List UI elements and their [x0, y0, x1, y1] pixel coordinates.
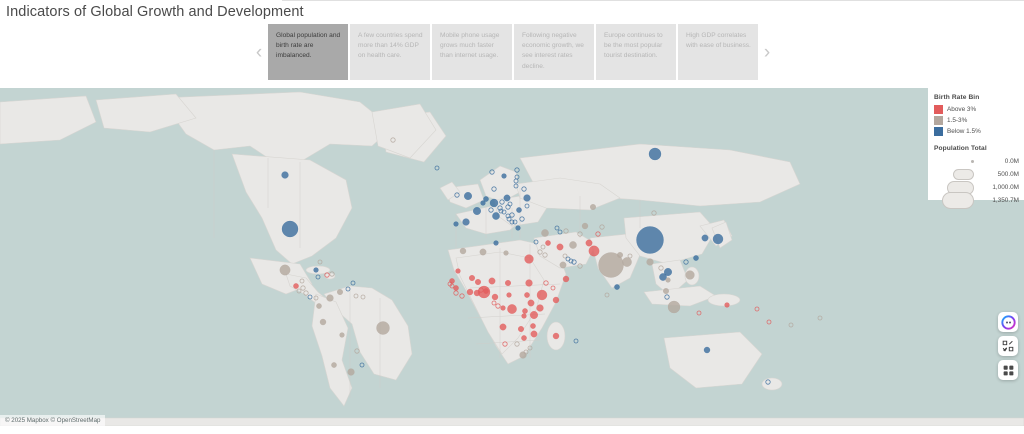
- story-point-label: Europe continues to be the most popular …: [604, 32, 663, 59]
- story-point-4[interactable]: Following negative economic growth, we s…: [514, 24, 594, 80]
- map-bubble[interactable]: [522, 308, 527, 313]
- map-bubble[interactable]: [555, 226, 559, 230]
- map-bubble[interactable]: [522, 314, 527, 319]
- map-bubble[interactable]: [574, 339, 578, 343]
- map-bubble[interactable]: [713, 234, 723, 244]
- map-bubble[interactable]: [569, 241, 576, 248]
- map-bubble[interactable]: [475, 279, 481, 285]
- legend-color-item[interactable]: Above 3%: [934, 104, 1019, 114]
- map-bubble[interactable]: [515, 168, 519, 172]
- map-bubble[interactable]: [327, 295, 334, 302]
- legend-swatch-icon: [934, 105, 943, 114]
- map-bubble[interactable]: [686, 271, 695, 280]
- map-bubble[interactable]: [492, 212, 499, 219]
- map-bubble[interactable]: [702, 235, 708, 241]
- map-bubble[interactable]: [473, 207, 481, 215]
- map-bubble[interactable]: [697, 311, 701, 315]
- legend-color-item[interactable]: Below 1.5%: [934, 126, 1019, 136]
- map-bubble[interactable]: [663, 288, 669, 294]
- map-bubble[interactable]: [526, 280, 533, 287]
- map-bubble[interactable]: [524, 195, 531, 202]
- apps-grid-icon[interactable]: [998, 360, 1018, 380]
- chevron-left-icon[interactable]: ‹: [250, 24, 268, 80]
- map-bubble[interactable]: [666, 278, 671, 283]
- map-attribution: © 2025 Mapbox © OpenStreetMap: [0, 415, 105, 426]
- legend-color-label: Below 1.5%: [947, 128, 981, 135]
- map-bubble[interactable]: [282, 221, 298, 237]
- map-bubble[interactable]: [500, 324, 506, 330]
- map-bubble[interactable]: [454, 222, 459, 227]
- legend-size-item[interactable]: 0.0M: [934, 155, 1019, 168]
- story-point-3[interactable]: Mobile phone usage grows much faster tha…: [432, 24, 512, 80]
- map-bubble[interactable]: [586, 240, 592, 246]
- story-navigator: ‹ Global population and birth rate are i…: [250, 24, 778, 80]
- story-point-2[interactable]: A few countries spend more than 14% GDP …: [350, 24, 430, 80]
- legend-size-shape: [953, 169, 974, 180]
- map-bubble[interactable]: [518, 326, 524, 332]
- story-dashboard: Indicators of Global Growth and Developm…: [0, 0, 1024, 434]
- map-bubble[interactable]: [507, 293, 512, 298]
- map-bubble[interactable]: [464, 192, 472, 200]
- map-bubble[interactable]: [647, 259, 654, 266]
- map-bubble[interactable]: [316, 303, 321, 308]
- map-bubble[interactable]: [320, 319, 326, 325]
- legend-size-label: 1,350.7M: [979, 197, 1019, 204]
- map-bubble[interactable]: [596, 232, 600, 236]
- map-bubble[interactable]: [553, 333, 559, 339]
- map-canvas[interactable]: © 2025 Mapbox © OpenStreetMap: [0, 88, 1024, 426]
- map-bubble[interactable]: [377, 322, 390, 335]
- map-bubble[interactable]: [348, 369, 355, 376]
- legend-size-label: 0.0M: [979, 158, 1019, 165]
- map-bubble[interactable]: [541, 229, 548, 236]
- map-bubble[interactable]: [589, 246, 599, 256]
- floating-control-stack: [998, 312, 1018, 380]
- map-bubble[interactable]: [360, 363, 364, 367]
- map-bubble[interactable]: [684, 260, 688, 264]
- map-bubble[interactable]: [481, 201, 486, 206]
- legend-size-title: Population Total: [934, 145, 1019, 152]
- map-bubble[interactable]: [528, 300, 534, 306]
- map-bubble[interactable]: [520, 352, 527, 359]
- map-bubble[interactable]: [530, 323, 535, 328]
- map-bubble[interactable]: [725, 303, 730, 308]
- map-bubble[interactable]: [617, 252, 623, 258]
- title-bar: Indicators of Global Growth and Developm…: [0, 0, 1024, 24]
- map-bubble[interactable]: [454, 291, 458, 295]
- einstein-ai-icon[interactable]: [998, 312, 1018, 332]
- map-bubble[interactable]: [622, 257, 631, 266]
- data-details-glyph: [1001, 339, 1015, 353]
- story-point-label: A few countries spend more than 14% GDP …: [358, 32, 423, 59]
- map-bubble[interactable]: [553, 297, 559, 303]
- story-point-label: Global population and birth rate are imb…: [276, 32, 340, 59]
- story-point-label: Mobile phone usage grows much faster tha…: [440, 32, 499, 59]
- map-bubble[interactable]: [652, 211, 656, 215]
- legend-color-label: 1.5-3%: [947, 117, 967, 124]
- map-bubble[interactable]: [767, 320, 771, 324]
- map-bubble[interactable]: [525, 255, 534, 264]
- map-bubble[interactable]: [316, 275, 320, 279]
- map-bubble[interactable]: [314, 268, 319, 273]
- map-bubble[interactable]: [755, 307, 759, 311]
- map-bubble[interactable]: [516, 207, 521, 212]
- map-bubble[interactable]: [504, 195, 510, 201]
- map-bubble[interactable]: [614, 284, 619, 289]
- map-bubble[interactable]: [537, 305, 544, 312]
- map-bubble[interactable]: [524, 292, 529, 297]
- map-bubble[interactable]: [507, 304, 516, 313]
- map-bubble[interactable]: [435, 166, 439, 170]
- map-bubble[interactable]: [489, 278, 495, 284]
- map-bubble[interactable]: [668, 301, 680, 313]
- map-bubble[interactable]: [293, 283, 298, 288]
- map-bubble[interactable]: [492, 294, 498, 300]
- map-bubble[interactable]: [516, 226, 521, 231]
- map-bubble[interactable]: [337, 289, 343, 295]
- map-bubble[interactable]: [490, 199, 498, 207]
- legend-size-label: 1,000.0M: [979, 184, 1019, 191]
- legend-color-title: Birth Rate Bin: [934, 94, 1019, 101]
- story-point-6[interactable]: High GDP correlates with ease of busines…: [678, 24, 758, 80]
- legend-size-item[interactable]: 1,350.7M: [934, 194, 1019, 207]
- map-bubble[interactable]: [494, 241, 499, 246]
- map-bubble[interactable]: [504, 251, 509, 256]
- map-bubble[interactable]: [331, 362, 336, 367]
- map-bubble[interactable]: [355, 349, 359, 353]
- map-bubble[interactable]: [483, 288, 488, 293]
- map-bubble[interactable]: [460, 294, 464, 298]
- title-divider: [282, 0, 1024, 1]
- map-bubble[interactable]: [501, 306, 506, 311]
- story-point-label: Following negative economic growth, we s…: [522, 32, 584, 70]
- map-bubble[interactable]: [704, 347, 710, 353]
- map-bubble[interactable]: [563, 276, 569, 282]
- story-point-1[interactable]: Global population and birth rate are imb…: [268, 24, 348, 80]
- legend-swatch-icon: [934, 127, 943, 136]
- map-bubble[interactable]: [558, 230, 562, 234]
- map-bubble[interactable]: [351, 281, 355, 285]
- legend-color-list: Above 3%1.5-3%Below 1.5%: [934, 104, 1019, 136]
- map-bubble[interactable]: [280, 265, 290, 275]
- map-bubble[interactable]: [537, 290, 547, 300]
- legend-color-item[interactable]: 1.5-3%: [934, 115, 1019, 125]
- map-bubble[interactable]: [282, 172, 289, 179]
- legend-size-list: 0.0M500.0M1,000.0M1,350.7M: [934, 155, 1019, 207]
- map-bubble[interactable]: [545, 240, 550, 245]
- map-bubble[interactable]: [463, 219, 470, 226]
- map-bubble[interactable]: [502, 174, 507, 179]
- legend-size-shape: [971, 160, 974, 163]
- map-vector-layer: [0, 88, 1024, 426]
- map-bubble[interactable]: [582, 223, 588, 229]
- legend-size-item[interactable]: 500.0M: [934, 168, 1019, 181]
- legend-color-label: Above 3%: [947, 106, 976, 113]
- map-bubble[interactable]: [505, 280, 511, 286]
- map-bubble[interactable]: [530, 311, 538, 319]
- apps-grid-glyph: [1002, 364, 1015, 377]
- map-bubble[interactable]: [560, 262, 566, 268]
- map-bubble[interactable]: [467, 289, 473, 295]
- chevron-right-icon[interactable]: ›: [758, 24, 776, 80]
- map-bubble[interactable]: [340, 333, 345, 338]
- map-bubble[interactable]: [649, 148, 661, 160]
- map-bubble[interactable]: [693, 255, 698, 260]
- story-point-label: High GDP correlates with ease of busines…: [686, 32, 751, 49]
- legend-panel: Birth Rate Bin Above 3%1.5-3%Below 1.5% …: [928, 88, 1024, 200]
- einstein-ai-glyph: [1001, 315, 1016, 330]
- legend-size-shape: [942, 192, 974, 209]
- data-details-icon[interactable]: [998, 336, 1018, 356]
- map-bubble[interactable]: [600, 225, 604, 229]
- legend-size-label: 500.0M: [979, 171, 1019, 178]
- map-bubble[interactable]: [557, 244, 563, 250]
- map-bubble[interactable]: [521, 335, 526, 340]
- map-bubble[interactable]: [637, 227, 664, 254]
- map-bubble[interactable]: [469, 275, 475, 281]
- map-bubble[interactable]: [318, 260, 322, 264]
- land-layer: [0, 92, 1024, 426]
- map-bubble[interactable]: [564, 229, 568, 233]
- story-point-list: Global population and birth rate are imb…: [268, 24, 758, 80]
- map-bubble[interactable]: [789, 323, 793, 327]
- page-title: Indicators of Global Growth and Developm…: [6, 4, 304, 20]
- story-point-5[interactable]: Europe continues to be the most popular …: [596, 24, 676, 80]
- map-bubble[interactable]: [480, 249, 486, 255]
- map-bubble[interactable]: [818, 316, 822, 320]
- legend-swatch-icon: [934, 116, 943, 125]
- map-bubble[interactable]: [531, 331, 537, 337]
- map-bubble[interactable]: [456, 269, 461, 274]
- map-bubble[interactable]: [460, 248, 466, 254]
- map-bubble[interactable]: [590, 204, 596, 210]
- map-bubble[interactable]: [605, 293, 609, 297]
